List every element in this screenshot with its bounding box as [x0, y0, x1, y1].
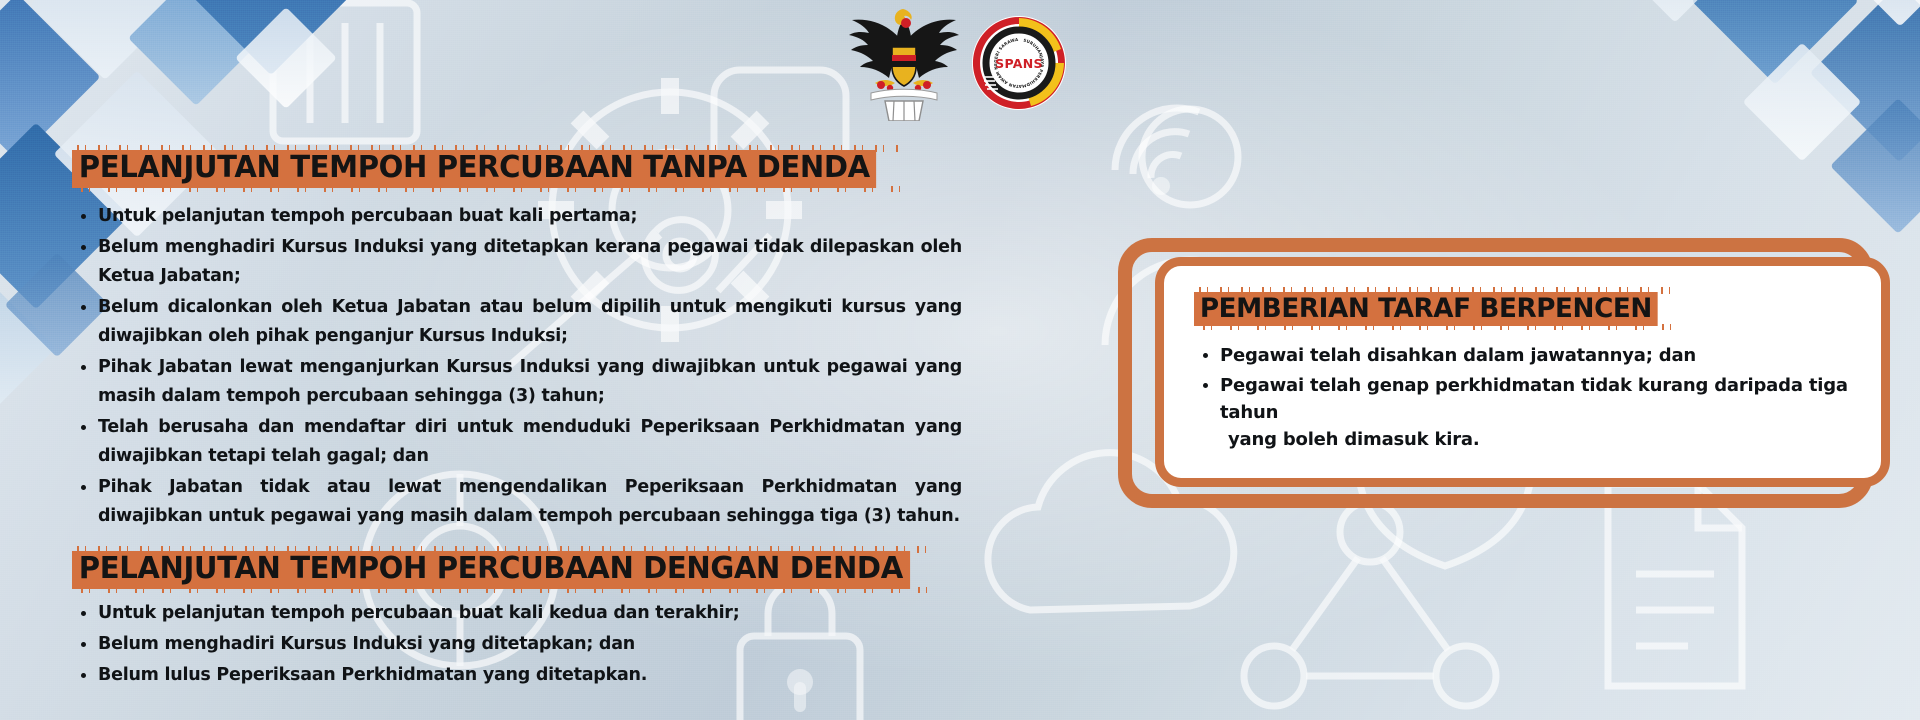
- decor-diamond: [1830, 98, 1920, 234]
- list-item-continuation: yang boleh dimasuk kira.: [1220, 426, 1851, 453]
- list-item: Pihak Jabatan lewat menganjurkan Kursus …: [72, 353, 962, 411]
- section1-bullet-list: Untuk pelanjutan tempoh percubaan buat k…: [72, 202, 962, 531]
- decor-diamond: [30, 0, 180, 80]
- poster-canvas: SURUHANJAYA PERKHIDMATAN AWAM NEGERI SAR…: [0, 0, 1920, 720]
- decor-diamond: [1611, 0, 1738, 23]
- section2-title-wrap: PELANJUTAN TEMPOH PERCUBAAN DENGAN DENDA: [72, 551, 936, 589]
- section2-title: PELANJUTAN TEMPOH PERCUBAAN DENGAN DENDA: [72, 551, 910, 589]
- list-item: Belum menghadiri Kursus Induksi yang dit…: [72, 632, 962, 656]
- right-card-title: PEMBERIAN TARAF BERPENCEN: [1194, 292, 1658, 326]
- right-card-title-wrap: PEMBERIAN TARAF BERPENCEN: [1194, 292, 1672, 326]
- decor-diamond: [128, 0, 264, 106]
- list-item: Pihak Jabatan tidak atau lewat mengendal…: [72, 473, 962, 531]
- right-card: PEMBERIAN TARAF BERPENCEN Pegawai telah …: [1155, 257, 1890, 487]
- section1-title: PELANJUTAN TEMPOH PERCUBAAN TANPA DENDA: [72, 150, 877, 188]
- list-item: Pegawai telah genap perkhidmatan tidak k…: [1194, 372, 1851, 453]
- watermark-server-icon: [255, 0, 435, 145]
- right-card-bullet-list: Pegawai telah disahkan dalam jawatannya;…: [1194, 342, 1851, 453]
- decor-diamond: [0, 280, 56, 416]
- section1-title-wrap: PELANJUTAN TEMPOH PERCUBAAN TANPA DENDA: [72, 150, 901, 188]
- svg-text:SPANS: SPANS: [995, 56, 1043, 71]
- list-item: Pegawai telah disahkan dalam jawatannya;…: [1194, 342, 1851, 369]
- watermark-wifi-icon: [1085, 70, 1245, 210]
- sarawak-state-crest-icon: [845, 5, 963, 121]
- decor-diamond: [192, 0, 350, 75]
- decor-diamond: [1810, 0, 1920, 162]
- section2-block: PELANJUTAN TEMPOH PERCUBAAN DENGAN DENDA…: [72, 551, 962, 687]
- decor-diamond: [1743, 43, 1862, 162]
- list-item: Belum dicalonkan oleh Ketua Jabatan atau…: [72, 293, 962, 351]
- list-item: Belum menghadiri Kursus Induksi yang dit…: [72, 233, 962, 291]
- decor-diamond: [235, 7, 337, 109]
- list-item: Telah berusaha dan mendaftar diri untuk …: [72, 413, 962, 471]
- decor-diamond: [1843, 0, 1920, 27]
- watermark-network-nodes-icon: [1230, 490, 1510, 720]
- decor-diamond: [0, 0, 100, 160]
- list-item-text: Pegawai telah genap perkhidmatan tidak k…: [1220, 375, 1848, 423]
- decor-diamond: [1692, 0, 1859, 84]
- spans-logo-icon: SURUHANJAYA PERKHIDMATAN AWAM NEGERI SAR…: [971, 15, 1067, 111]
- list-item: Untuk pelanjutan tempoh percubaan buat k…: [72, 202, 962, 231]
- list-item: Belum lulus Peperiksaan Perkhidmatan yan…: [72, 663, 962, 687]
- section2-bullet-list: Untuk pelanjutan tempoh percubaan buat k…: [72, 601, 962, 687]
- left-content-column: PELANJUTAN TEMPOH PERCUBAAN TANPA DENDA …: [72, 150, 962, 694]
- logo-group: SURUHANJAYA PERKHIDMATAN AWAM NEGERI SAR…: [845, 4, 1085, 122]
- list-item: Untuk pelanjutan tempoh percubaan buat k…: [72, 601, 962, 625]
